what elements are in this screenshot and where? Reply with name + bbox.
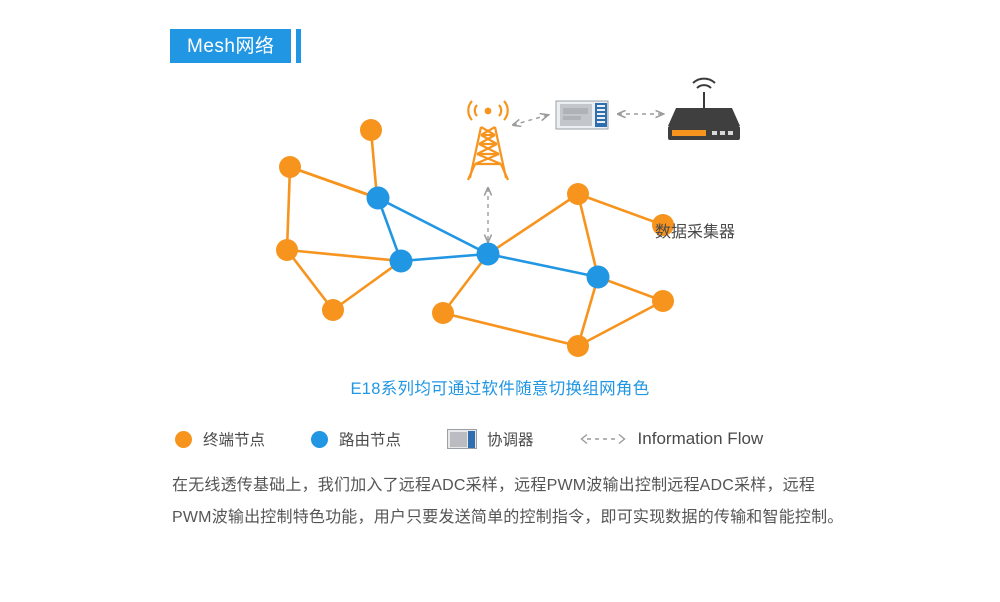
chip-shield-icon — [450, 432, 467, 447]
mesh-network-diagram: 数据采集器 — [0, 70, 1000, 370]
radio-tower-icon — [468, 101, 508, 180]
diagram-caption: E18系列均可通过软件随意切换组网角色 — [0, 375, 1000, 399]
end-node — [652, 290, 674, 312]
section-title: Mesh网络 — [170, 29, 301, 63]
legend-item-router-node: 路由节点 — [311, 428, 401, 450]
data-collector-label: 数据采集器 — [655, 218, 735, 242]
end-node — [432, 302, 454, 324]
orange-dot-icon — [175, 431, 192, 448]
description-paragraph: 在无线透传基础上，我们加入了远程ADC采样，远程PWM波输出控制远程ADC采样，… — [172, 470, 844, 534]
legend-item-coordinator: 协调器 — [447, 428, 534, 450]
orange-edges — [287, 167, 663, 346]
legend-label-router-node: 路由节点 — [339, 428, 401, 450]
legend-item-information-flow: Information Flow — [580, 429, 764, 449]
legend: 终端节点 路由节点 协调器 Information Flow — [175, 424, 763, 454]
rf-module-icon — [556, 101, 608, 129]
end-node — [567, 183, 589, 205]
end-node — [279, 156, 301, 178]
information-flow-arrows — [488, 114, 663, 242]
end-node — [567, 335, 589, 357]
router-node — [367, 187, 390, 210]
end-node — [276, 239, 298, 261]
chip-pads-icon — [468, 431, 475, 448]
router-node — [587, 266, 610, 289]
legend-label-end-node: 终端节点 — [203, 428, 265, 450]
rf-module-icon — [447, 429, 477, 449]
router-node — [477, 243, 500, 266]
section-title-accent — [296, 29, 301, 63]
end-node — [322, 299, 344, 321]
router-node — [390, 250, 413, 273]
data-collector-icon — [668, 79, 740, 140]
legend-label-information-flow: Information Flow — [638, 429, 764, 449]
blue-dot-icon — [311, 431, 328, 448]
bidirectional-arrow-icon — [580, 433, 626, 445]
mesh-topology-svg — [0, 70, 1000, 370]
legend-item-end-node: 终端节点 — [175, 428, 265, 450]
legend-label-coordinator: 协调器 — [487, 428, 534, 450]
section-title-badge: Mesh网络 — [170, 29, 291, 63]
